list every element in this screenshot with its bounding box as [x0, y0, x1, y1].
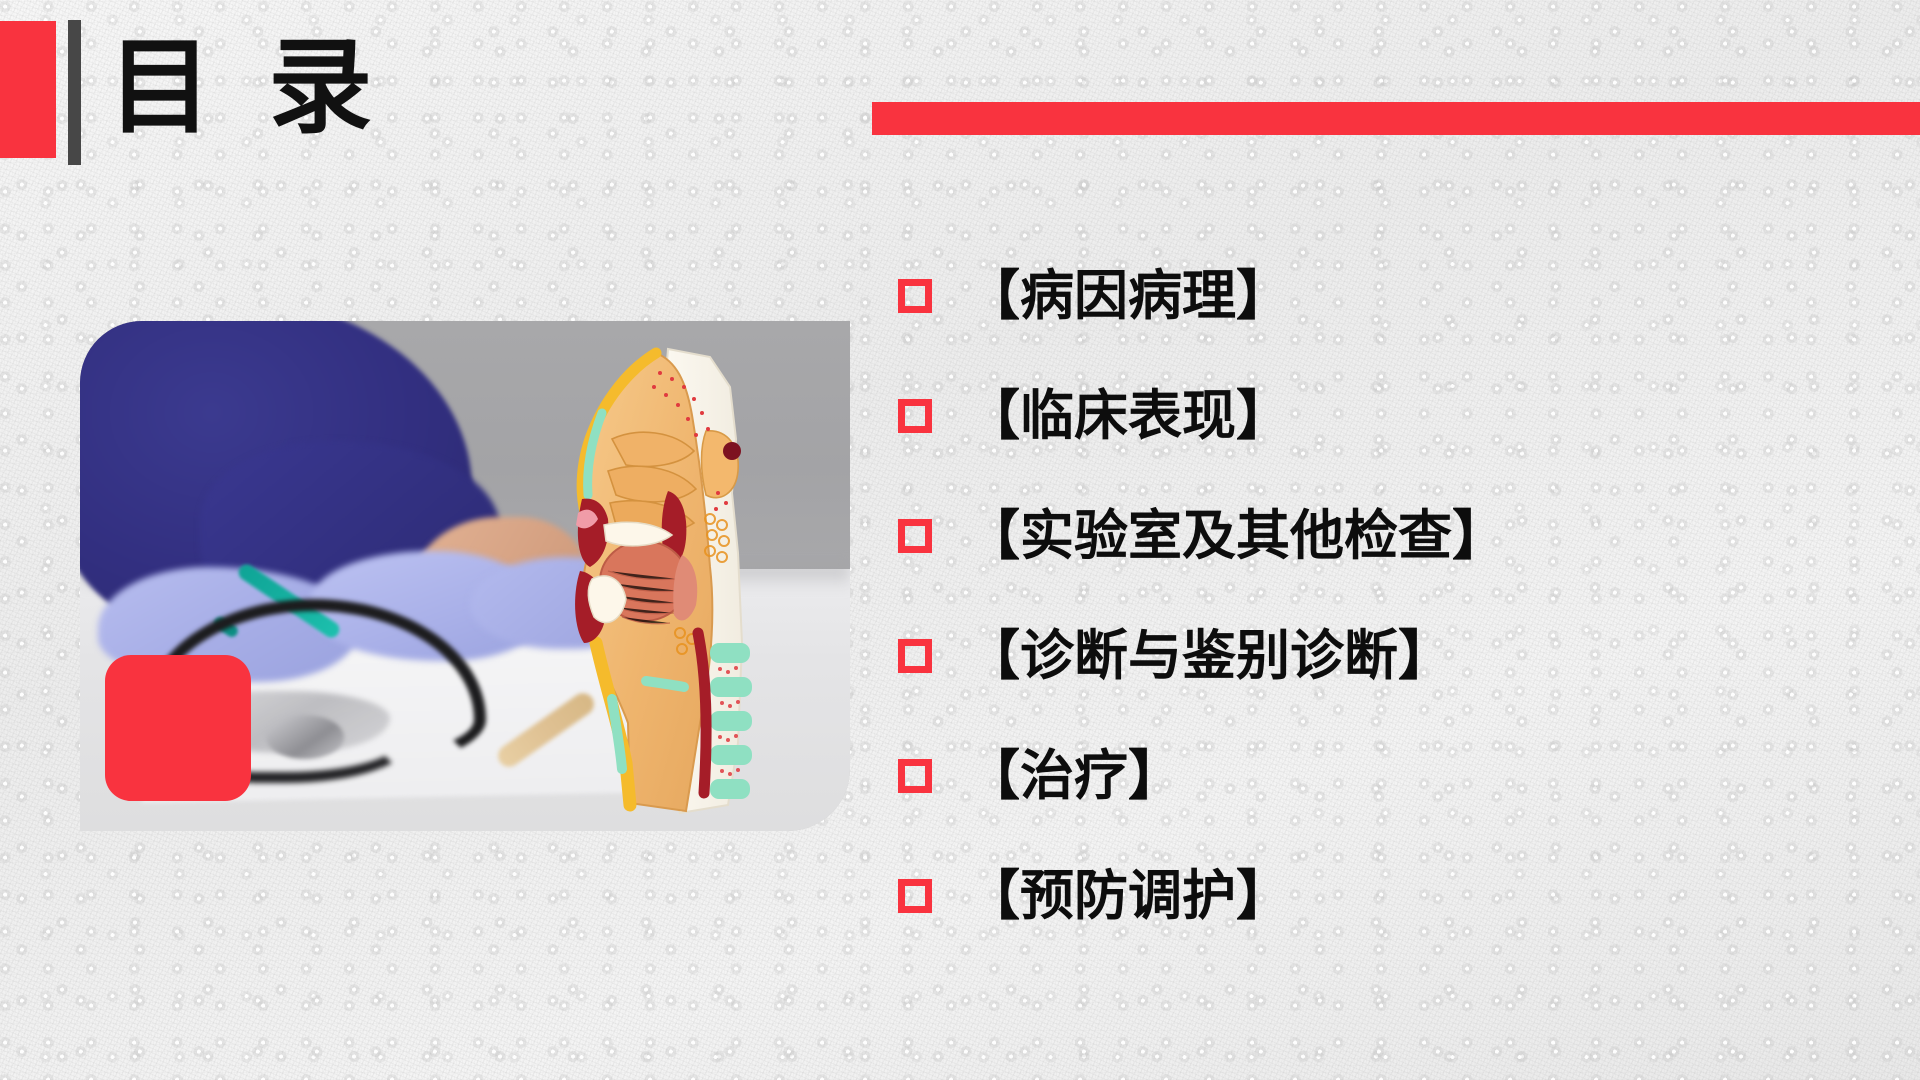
contents-list: 【病因病理】 【临床表现】 【实验室及其他检查】 【诊断与鉴别诊断】 【治疗】 … [890, 236, 1900, 956]
list-item[interactable]: 【诊断与鉴别诊断】 [890, 596, 1900, 716]
contents-item-label: 【病因病理】 [966, 266, 1290, 326]
page-title: 目 录 [108, 22, 382, 152]
hollow-square-bullet-icon [898, 639, 932, 673]
contents-item-label: 【预防调护】 [966, 866, 1290, 926]
photo-red-overlay-square [105, 655, 251, 801]
list-item[interactable]: 【治疗】 [890, 716, 1900, 836]
list-item[interactable]: 【预防调护】 [890, 836, 1900, 956]
stethoscope-chestpiece [266, 715, 344, 759]
header-red-rule [872, 102, 1920, 135]
head-neck-anatomy-model [560, 343, 780, 823]
list-item[interactable]: 【实验室及其他检查】 [890, 476, 1900, 596]
hollow-square-bullet-icon [898, 879, 932, 913]
hollow-square-bullet-icon [898, 519, 932, 553]
header-gray-bar [68, 20, 81, 165]
slide-canvas: 目 录 [0, 0, 1920, 1080]
list-item[interactable]: 【病因病理】 [890, 236, 1900, 356]
header-red-block [0, 21, 56, 158]
hollow-square-bullet-icon [898, 399, 932, 433]
hollow-square-bullet-icon [898, 759, 932, 793]
hollow-square-bullet-icon [898, 279, 932, 313]
photo-image [80, 321, 850, 831]
contents-item-label: 【诊断与鉴别诊断】 [966, 626, 1452, 686]
contents-item-label: 【临床表现】 [966, 386, 1290, 446]
contents-item-label: 【实验室及其他检查】 [966, 506, 1506, 566]
list-item[interactable]: 【临床表现】 [890, 356, 1900, 476]
photo-card [80, 321, 850, 831]
contents-item-label: 【治疗】 [966, 746, 1182, 806]
